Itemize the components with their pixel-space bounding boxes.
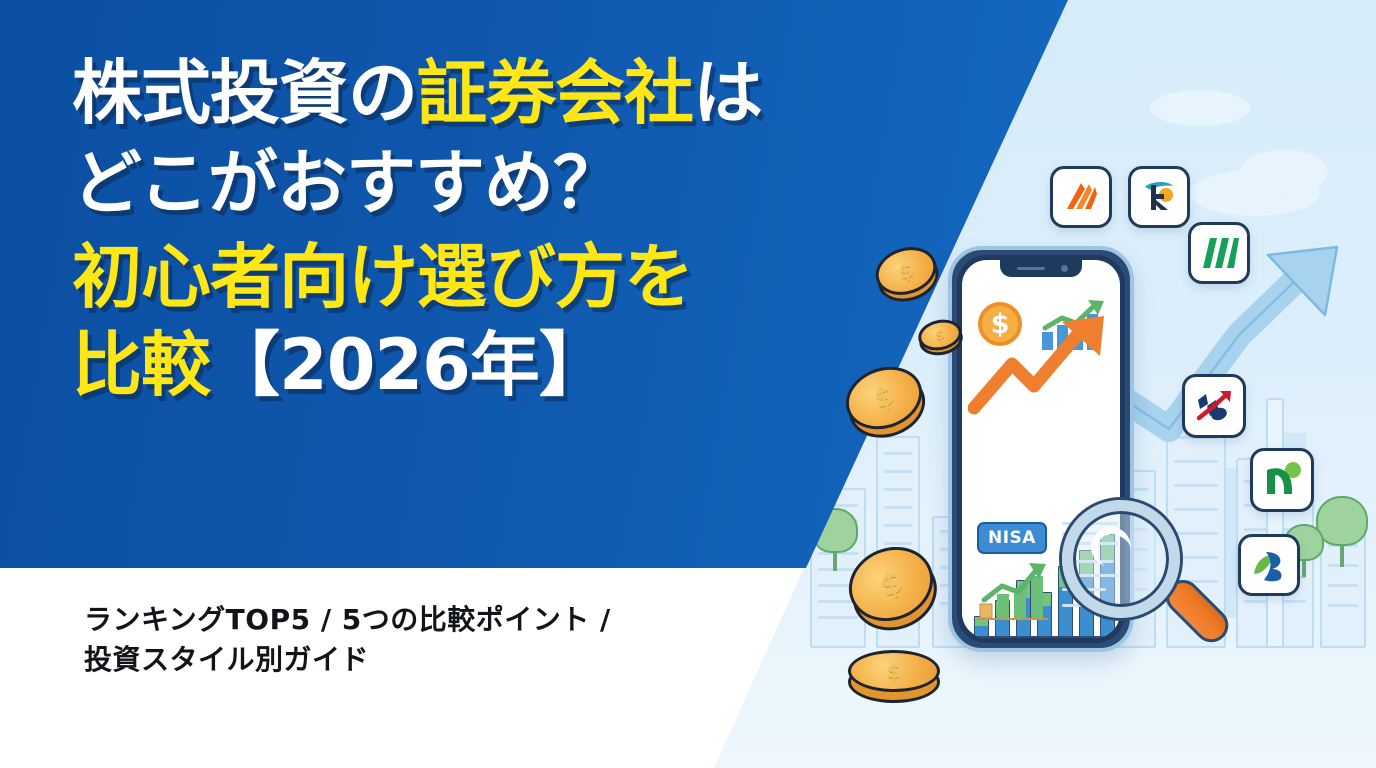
magnifier-ring <box>1062 500 1180 618</box>
broker-logo-n-mark[interactable] <box>1250 448 1314 512</box>
broker-logo-arrow[interactable] <box>1182 374 1246 438</box>
green-bars-icon <box>1199 234 1239 272</box>
headline-line-4: 比較【2026年】 <box>72 330 1032 400</box>
headline-block: 株式投資の証券会社は どこがおすすめ？ 初心者向け選び方を 比較【2026年】 <box>72 58 1032 400</box>
magnifying-glass-icon <box>1062 500 1212 650</box>
headline-line-2-text: どこがおすすめ？ <box>72 142 622 224</box>
headline-line-1-yellow: 証券会社 <box>417 52 693 134</box>
green-blue-b-icon <box>1248 544 1290 586</box>
broker-logo-bars[interactable] <box>1188 222 1250 284</box>
broker-logo-flame[interactable] <box>1050 166 1112 228</box>
cloud-icon <box>1240 150 1328 194</box>
headline-line-1-tail: は <box>693 52 762 134</box>
green-n-icon <box>1260 458 1304 502</box>
headline-line-1-white: 株式投資の <box>72 52 417 134</box>
cloud-icon <box>1150 90 1250 126</box>
subtitle-line-2: 投資スタイル別ガイド <box>84 640 611 680</box>
headline-line-2: どこがおすすめ？ <box>72 148 1032 218</box>
navy-red-arrow-icon <box>1192 384 1236 428</box>
subtitle-line-1: ランキングTOP5 / 5つの比較ポイント / <box>84 600 611 640</box>
teal-navy-f-icon <box>1138 176 1180 218</box>
camera-icon <box>1061 265 1068 272</box>
nisa-badge: NISA <box>977 522 1047 554</box>
orange-flame-icon <box>1061 177 1101 217</box>
magnifier-glint <box>1087 523 1134 570</box>
nisa-growth-chart-icon <box>976 560 1052 622</box>
headline-line-1: 株式投資の証券会社は <box>72 58 1032 128</box>
broker-logo-f-mark[interactable] <box>1128 166 1190 228</box>
headline-line-3-text: 初心者向け選び方を <box>72 236 693 318</box>
headline-line-3: 初心者向け選び方を <box>72 242 1032 312</box>
coin-resting: $ <box>848 650 940 692</box>
headline-line-4-yellow: 比較 <box>72 324 210 406</box>
broker-logo-b-mark[interactable] <box>1238 534 1300 596</box>
headline-line-4-white: 【2026年】 <box>210 324 608 406</box>
subtitle-block: ランキングTOP5 / 5つの比較ポイント / 投資スタイル別ガイド <box>84 600 611 680</box>
hero-banner: $ $ $ $ $ $ <box>0 0 1376 768</box>
